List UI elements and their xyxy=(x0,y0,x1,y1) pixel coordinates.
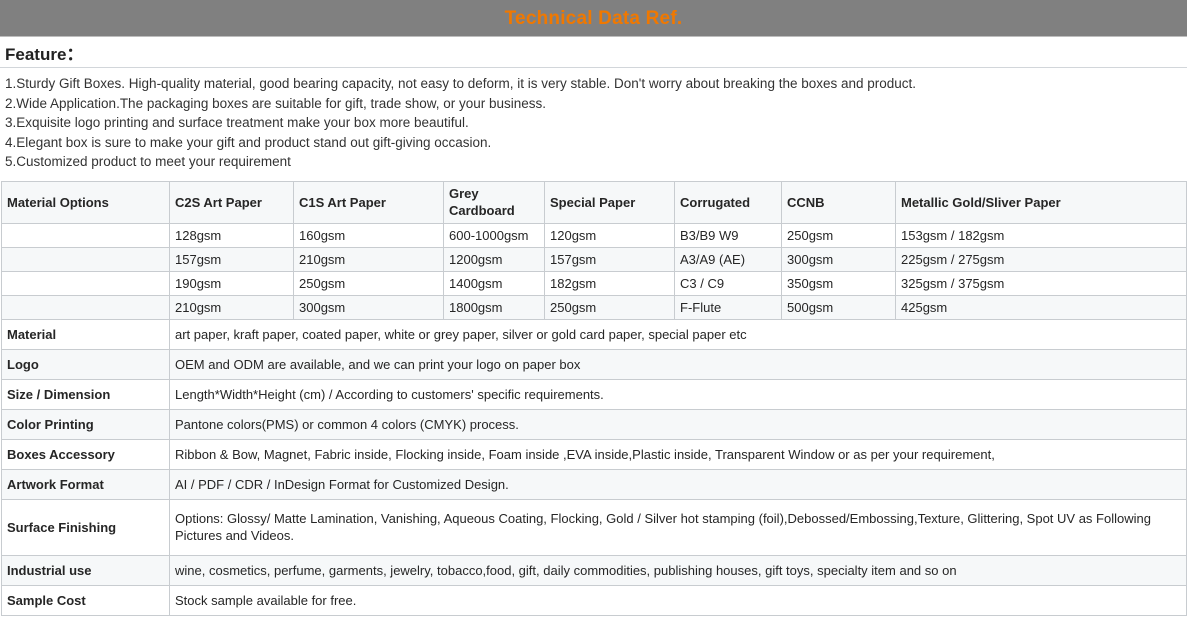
spec-label: Surface Finishing xyxy=(2,499,170,555)
cell-gsm: 300gsm xyxy=(294,295,444,319)
spec-value: Pantone colors(PMS) or common 4 colors (… xyxy=(170,409,1187,439)
column-header-corrugated: Corrugated xyxy=(675,181,782,223)
cell-gsm: F-Flute xyxy=(675,295,782,319)
spec-label: Logo xyxy=(2,349,170,379)
spec-row-sample-cost: Sample Cost Stock sample available for f… xyxy=(2,585,1187,615)
column-header-special-paper: Special Paper xyxy=(545,181,675,223)
cell-gsm: 250gsm xyxy=(545,295,675,319)
cell-gsm: 120gsm xyxy=(545,223,675,247)
spec-row-logo: Logo OEM and ODM are available, and we c… xyxy=(2,349,1187,379)
spec-label: Industrial use xyxy=(2,555,170,585)
spec-row-material: Material art paper, kraft paper, coated … xyxy=(2,319,1187,349)
cell-gsm: A3/A9 (AE) xyxy=(675,247,782,271)
spec-label: Color Printing xyxy=(2,409,170,439)
cell-gsm: 225gsm / 275gsm xyxy=(896,247,1187,271)
spec-row-size-dimension: Size / Dimension Length*Width*Height (cm… xyxy=(2,379,1187,409)
cell-gsm: 160gsm xyxy=(294,223,444,247)
spec-label: Sample Cost xyxy=(2,585,170,615)
spec-label: Size / Dimension xyxy=(2,379,170,409)
cell-gsm: 1400gsm xyxy=(444,271,545,295)
cell-gsm: 250gsm xyxy=(294,271,444,295)
feature-line: 3.Exquisite logo printing and surface tr… xyxy=(5,113,1182,133)
column-header-c1s-art-paper: C1S Art Paper xyxy=(294,181,444,223)
spec-row-surface-finishing: Surface Finishing Options: Glossy/ Matte… xyxy=(2,499,1187,555)
cell-gsm: 325gsm / 375gsm xyxy=(896,271,1187,295)
cell-gsm: 350gsm xyxy=(782,271,896,295)
column-header-c2s-art-paper: C2S Art Paper xyxy=(170,181,294,223)
spec-value: Options: Glossy/ Matte Lamination, Vanis… xyxy=(170,499,1187,555)
cell-gsm: 210gsm xyxy=(170,295,294,319)
cell-gsm: 300gsm xyxy=(782,247,896,271)
feature-line: 5.Customized product to meet your requir… xyxy=(5,152,1182,172)
cell-gsm: 1200gsm xyxy=(444,247,545,271)
table-row: 190gsm 250gsm 1400gsm 182gsm C3 / C9 350… xyxy=(2,271,1187,295)
feature-list: 1.Sturdy Gift Boxes. High-quality materi… xyxy=(0,68,1187,179)
spec-row-industrial-use: Industrial use wine, cosmetics, perfume,… xyxy=(2,555,1187,585)
spec-row-color-printing: Color Printing Pantone colors(PMS) or co… xyxy=(2,409,1187,439)
spec-label: Boxes Accessory xyxy=(2,439,170,469)
feature-line: 1.Sturdy Gift Boxes. High-quality materi… xyxy=(5,74,1182,94)
cell-gsm: 182gsm xyxy=(545,271,675,295)
feature-heading-row: Feature： xyxy=(0,37,1187,68)
cell-gsm: 500gsm xyxy=(782,295,896,319)
column-header-grey-cardboard: Grey Cardboard xyxy=(444,181,545,223)
technical-data-sheet: Technical Data Ref. Feature： 1.Sturdy Gi… xyxy=(0,0,1187,620)
spec-value: art paper, kraft paper, coated paper, wh… xyxy=(170,319,1187,349)
spec-row-boxes-accessory: Boxes Accessory Ribbon & Bow, Magnet, Fa… xyxy=(2,439,1187,469)
cell-gsm: 600-1000gsm xyxy=(444,223,545,247)
cell-empty xyxy=(2,295,170,319)
spec-label: Material xyxy=(2,319,170,349)
spec-value: Stock sample available for free. xyxy=(170,585,1187,615)
spec-value: OEM and ODM are available, and we can pr… xyxy=(170,349,1187,379)
spec-label: Artwork Format xyxy=(2,469,170,499)
cell-gsm: B3/B9 W9 xyxy=(675,223,782,247)
column-header-material-options: Material Options xyxy=(2,181,170,223)
cell-gsm: 210gsm xyxy=(294,247,444,271)
table-row: 128gsm 160gsm 600-1000gsm 120gsm B3/B9 W… xyxy=(2,223,1187,247)
cell-gsm: 157gsm xyxy=(545,247,675,271)
spec-value: AI / PDF / CDR / InDesign Format for Cus… xyxy=(170,469,1187,499)
title-bar: Technical Data Ref. xyxy=(0,0,1187,37)
table-row: 157gsm 210gsm 1200gsm 157gsm A3/A9 (AE) … xyxy=(2,247,1187,271)
cell-gsm: 1800gsm xyxy=(444,295,545,319)
column-header-ccnb: CCNB xyxy=(782,181,896,223)
cell-gsm: 425gsm xyxy=(896,295,1187,319)
cell-empty xyxy=(2,247,170,271)
page-title: Technical Data Ref. xyxy=(505,9,683,28)
spec-value: wine, cosmetics, perfume, garments, jewe… xyxy=(170,555,1187,585)
cell-gsm: 190gsm xyxy=(170,271,294,295)
feature-line: 4.Elegant box is sure to make your gift … xyxy=(5,133,1182,153)
column-header-metallic-gold-sliver-paper: Metallic Gold/Sliver Paper xyxy=(896,181,1187,223)
table-header-row: Material Options C2S Art Paper C1S Art P… xyxy=(2,181,1187,223)
spec-value: Ribbon & Bow, Magnet, Fabric inside, Flo… xyxy=(170,439,1187,469)
cell-gsm: 157gsm xyxy=(170,247,294,271)
specification-table: Material Options C2S Art Paper C1S Art P… xyxy=(1,181,1187,616)
cell-gsm: 128gsm xyxy=(170,223,294,247)
table-row: 210gsm 300gsm 1800gsm 250gsm F-Flute 500… xyxy=(2,295,1187,319)
feature-line: 2.Wide Application.The packaging boxes a… xyxy=(5,94,1182,114)
cell-empty xyxy=(2,271,170,295)
cell-gsm: 153gsm / 182gsm xyxy=(896,223,1187,247)
cell-empty xyxy=(2,223,170,247)
feature-heading: Feature： xyxy=(5,40,83,65)
cell-gsm: 250gsm xyxy=(782,223,896,247)
cell-gsm: C3 / C9 xyxy=(675,271,782,295)
spec-value: Length*Width*Height (cm) / According to … xyxy=(170,379,1187,409)
spec-row-artwork-format: Artwork Format AI / PDF / CDR / InDesign… xyxy=(2,469,1187,499)
